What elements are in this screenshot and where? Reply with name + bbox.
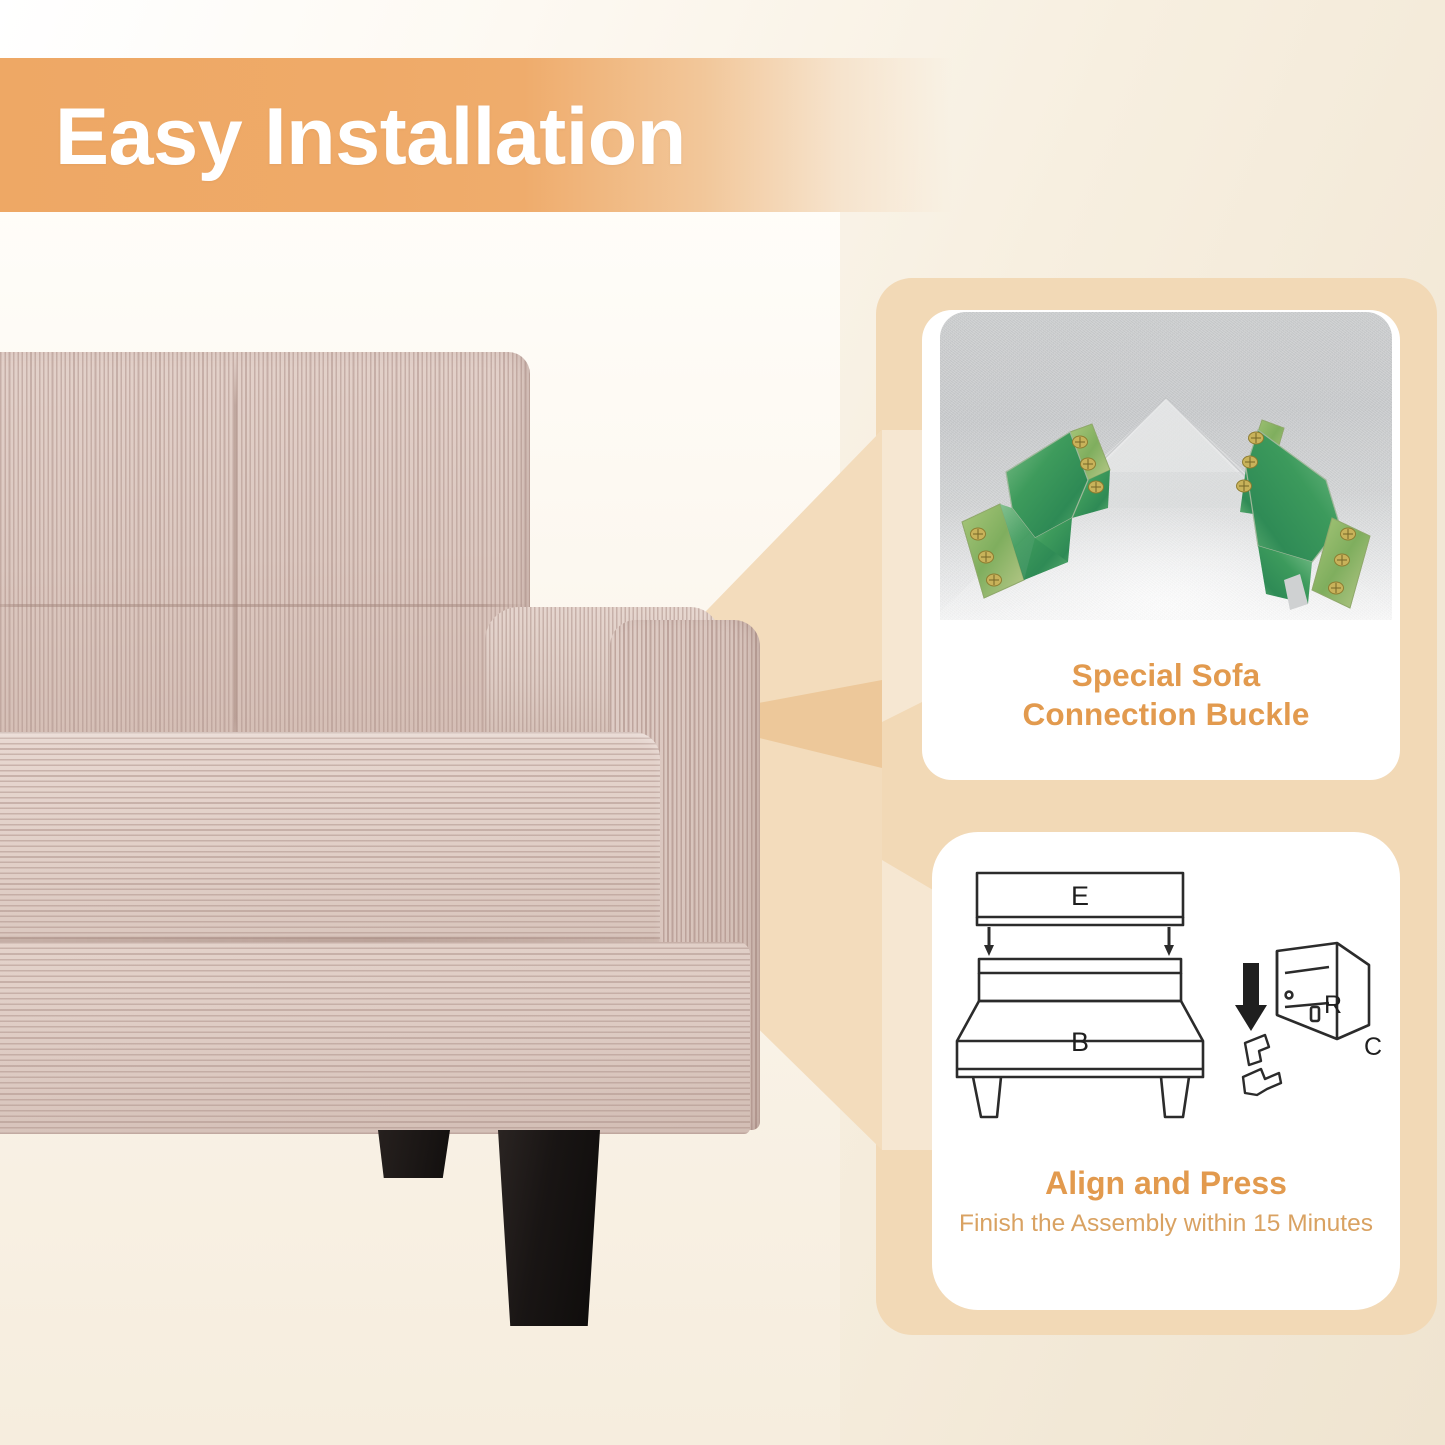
caption-line-1: Special Sofa [940,656,1392,695]
sofa-photo [0,352,800,1152]
sofa-seat-cushion [0,732,660,962]
caption-line-2: Connection Buckle [940,695,1392,734]
sofa-leg-back [378,1130,450,1178]
page-title: Easy Installation [55,78,915,196]
sofa-base [0,942,750,1134]
diagram-label-bracket: C [1364,1033,1382,1061]
cushion-seam-vertical [234,356,237,768]
assembly-diagram: E B R C [945,855,1393,1155]
card-subtitle-align: Finish the Assembly within 15 Minutes [930,1208,1402,1240]
card-caption-align: Align and Press [940,1163,1392,1203]
buckle-photo [940,312,1392,620]
diagram-label-side-panel: R [1324,991,1342,1019]
buckle-illustration [940,312,1392,620]
diagram-label-backrest: E [1071,881,1089,911]
sofa-back-cushion [0,352,530,772]
diagram-label-base: B [1071,1027,1089,1057]
card-caption-buckle: Special Sofa Connection Buckle [940,656,1392,734]
product-infographic: Easy Installation [0,0,1445,1445]
down-arrow-icon [1235,963,1267,1031]
sofa-leg-front [498,1130,600,1326]
cushion-seam-horizontal [0,604,528,607]
